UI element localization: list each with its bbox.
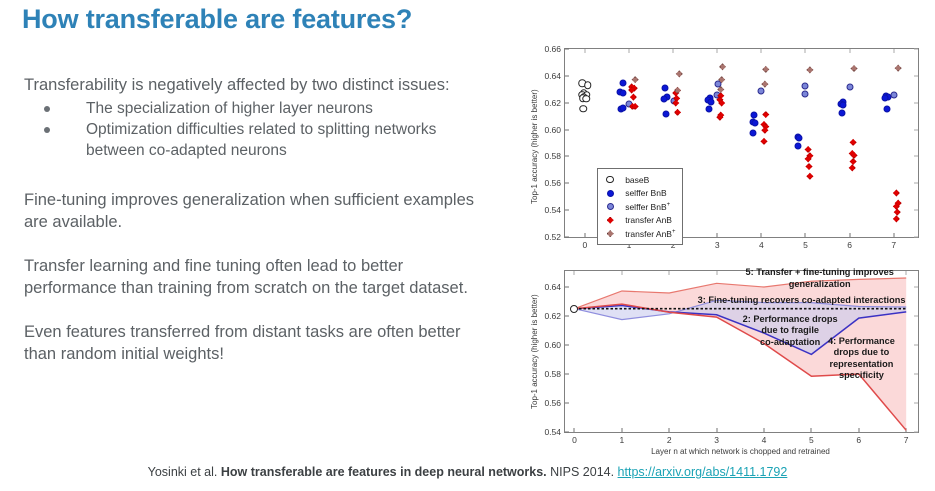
scatter-point (758, 88, 765, 95)
scatter-point (762, 111, 769, 118)
scatter-x-tick-mark (893, 233, 894, 237)
legend-marker-wrap (602, 230, 618, 237)
paragraph-transfer: Transfer learning and fine tuning often … (24, 255, 494, 299)
summary-x-tick: 6 (856, 435, 861, 445)
bullet-list: The specialization of higher layer neuro… (24, 98, 494, 161)
scatter-x-tick-mark (849, 49, 850, 53)
summary-x-tick: 3 (714, 435, 719, 445)
legend-row: transfer AnB (602, 213, 675, 227)
scatter-point (895, 65, 902, 72)
scatter-y-tick-mark (914, 183, 918, 184)
summary-y-tick: 0.56 (544, 398, 561, 408)
scatter-y-tick-mark (914, 102, 918, 103)
scatter-y-tick: 0.62 (544, 98, 561, 108)
summary-y-tick: 0.54 (544, 427, 561, 437)
scatter-y-tick-mark (914, 210, 918, 211)
scatter-y-tick-mark (914, 75, 918, 76)
summary-annotation-2: 2: Performance drops due to fragile co-a… (743, 314, 838, 349)
scatter-legend: baseBselffer BnBselffer BnB+transfer AnB… (597, 168, 682, 246)
legend-label: baseB (625, 175, 649, 185)
scatter-y-tick: 0.66 (544, 44, 561, 54)
spacer (24, 233, 494, 255)
scatter-point (802, 82, 809, 89)
intro-paragraph: Transferability is negatively affected b… (24, 74, 494, 96)
scatter-point (893, 215, 900, 222)
scatter-point (584, 82, 592, 90)
paragraph-finetuning: Fine-tuning improves generalization when… (24, 189, 494, 233)
legend-marker-filled-circle (607, 190, 614, 197)
legend-marker-wrap (602, 203, 618, 210)
scatter-point (893, 189, 900, 196)
scatter-y-tick-mark (565, 210, 569, 211)
summary-y-tick: 0.62 (544, 311, 561, 321)
scatter-point (661, 95, 668, 102)
scatter-point (708, 99, 715, 106)
citation-link[interactable]: https://arxiv.org/abs/1411.1792 (618, 465, 788, 479)
scatter-y-tick-mark (914, 156, 918, 157)
scatter-point (806, 66, 813, 73)
scatter-y-tick: 0.60 (544, 125, 561, 135)
summary-x-tick: 2 (667, 435, 672, 445)
scatter-point (582, 95, 590, 103)
scatter-y-tick: 0.52 (544, 232, 561, 242)
legend-marker-wrap (602, 190, 618, 197)
scatter-x-tick-mark (805, 233, 806, 237)
summary-annotation-4: 4: Performance drops due to representati… (828, 336, 895, 382)
scatter-point (762, 66, 769, 73)
legend-row: baseB (602, 173, 675, 187)
scatter-point (850, 158, 857, 165)
scatter-point (630, 94, 637, 101)
summary-chart: Top-1 accuracy (higher is better) 0.540.… (516, 260, 924, 460)
scatter-point (883, 105, 890, 112)
scatter-point (706, 106, 713, 113)
legend-marker-open-circle (606, 176, 614, 184)
scatter-y-tick: 0.56 (544, 178, 561, 188)
scatter-x-tick-mark (717, 233, 718, 237)
scatter-point (894, 209, 901, 216)
list-item-label: Optimization difficulties related to spl… (86, 121, 436, 159)
scatter-y-tick: 0.64 (544, 71, 561, 81)
legend-row: selffer BnB (602, 186, 675, 200)
scatter-x-tick-mark (805, 49, 806, 53)
legend-label: selffer BnB+ (625, 202, 670, 212)
scatter-y-tick-mark (565, 183, 569, 184)
scatter-point (850, 139, 857, 146)
citation-venue: NIPS 2014. (547, 465, 618, 479)
scatter-point (890, 91, 897, 98)
list-item-label: The specialization of higher layer neuro… (86, 100, 373, 117)
legend-marker-wrap (602, 217, 618, 224)
scatter-y-tick: 0.54 (544, 205, 561, 215)
scatter-x-tick-mark (673, 49, 674, 53)
scatter-point (796, 134, 803, 141)
spacer (24, 161, 494, 189)
scatter-x-tick-mark (717, 49, 718, 53)
scatter-point (750, 130, 757, 137)
scatter-x-tick-mark (893, 49, 894, 53)
scatter-point (881, 95, 888, 102)
scatter-x-tick-mark (584, 49, 585, 53)
bullet-dot-icon (44, 106, 50, 112)
summary-x-tick: 1 (619, 435, 624, 445)
scatter-x-tick: 6 (847, 240, 852, 250)
legend-label: selffer BnB (625, 188, 666, 198)
scatter-point (676, 70, 683, 77)
scatter-y-tick-mark (565, 156, 569, 157)
scatter-y-tick-mark (565, 237, 569, 238)
summary-x-tick: 4 (762, 435, 767, 445)
scatter-x-tick-mark (628, 49, 629, 53)
scatter-x-tick-mark (761, 233, 762, 237)
scatter-y-tick-mark (565, 102, 569, 103)
scatter-y-tick-mark (565, 129, 569, 130)
legend-marker-filled-diamond (607, 217, 614, 224)
scatter-point (838, 110, 845, 117)
scatter-x-tick-mark (761, 49, 762, 53)
scatter-point (662, 85, 669, 92)
list-item: The specialization of higher layer neuro… (24, 98, 494, 119)
legend-marker-wrap (602, 176, 618, 184)
summary-x-tick: 5 (809, 435, 814, 445)
scatter-x-tick-mark (849, 233, 850, 237)
figure-panel: Top-1 accuracy (higher is better) 0.520.… (516, 42, 924, 460)
legend-label: transfer AnB+ (625, 229, 675, 239)
summary-y-tick: 0.58 (544, 369, 561, 379)
summary-annotation-5: 5: Transfer + fine-tuning improves gener… (721, 267, 918, 290)
scatter-point (802, 90, 809, 97)
legend-row: transfer AnB+ (602, 227, 675, 241)
scatter-x-tick-mark (584, 233, 585, 237)
scatter-x-tick: 4 (759, 240, 764, 250)
scatter-y-tick-mark (914, 129, 918, 130)
scatter-y-tick-mark (914, 237, 918, 238)
scatter-point (847, 84, 854, 91)
body-content: Transferability is negatively affected b… (24, 74, 494, 365)
scatter-x-tick: 7 (891, 240, 896, 250)
summary-x-tick: 7 (904, 435, 909, 445)
bullet-dot-icon (44, 127, 50, 133)
citation-footer: Yosinki et al. How transferable are feat… (0, 465, 935, 479)
scatter-y-tick-mark (914, 49, 918, 50)
legend-row: selffer BnB+ (602, 200, 675, 214)
scatter-x-tick: 0 (582, 240, 587, 250)
legend-label: transfer AnB (625, 215, 672, 225)
legend-marker-filled-diamond (607, 230, 614, 237)
page-title: How transferable are features? (22, 4, 412, 35)
scatter-point (619, 90, 626, 97)
scatter-x-tick: 5 (803, 240, 808, 250)
summary-y-tick: 0.60 (544, 340, 561, 350)
scatter-plot-area: 0.520.540.560.580.600.620.640.6601234567… (564, 48, 919, 238)
scatter-point (849, 164, 856, 171)
scatter-point (840, 101, 847, 108)
legend-marker-filled-circle (607, 203, 614, 210)
citation-authors: Yosinki et al. (148, 465, 221, 479)
scatter-point (761, 81, 768, 88)
summary-annotation-3: 3: Fine-tuning recovers co-adapted inter… (698, 295, 906, 307)
summary-y-axis-label: Top-1 accuracy (higher is better) (530, 294, 539, 409)
scatter-point (663, 110, 670, 117)
scatter-chart: Top-1 accuracy (higher is better) 0.520.… (516, 42, 924, 260)
paragraph-distant-tasks: Even features transferred from distant t… (24, 321, 494, 365)
scatter-y-tick-mark (565, 49, 569, 50)
summary-plot-area: 0.540.560.580.600.620.64012345675: Trans… (564, 270, 919, 433)
scatter-y-tick: 0.58 (544, 151, 561, 161)
scatter-point (632, 76, 639, 83)
scatter-point (674, 109, 681, 116)
scatter-point (719, 63, 726, 70)
summary-y-tick: 0.64 (544, 282, 561, 292)
scatter-point (806, 163, 813, 170)
scatter-point (805, 146, 812, 153)
scatter-point (619, 80, 626, 87)
citation-paper-title: How transferable are features in deep ne… (221, 465, 547, 479)
summary-origin-marker (570, 305, 578, 313)
scatter-point (795, 143, 802, 150)
scatter-point (761, 138, 768, 145)
slide-root: How transferable are features? Transfera… (0, 0, 935, 491)
summary-x-tick: 0 (572, 435, 577, 445)
scatter-y-tick-mark (565, 75, 569, 76)
scatter-point (851, 65, 858, 72)
scatter-point (806, 173, 813, 180)
spacer (24, 299, 494, 321)
scatter-point (579, 105, 587, 113)
list-item: Optimization difficulties related to spl… (24, 119, 494, 161)
summary-x-axis-label: Layer n at which network is chopped and … (564, 447, 917, 456)
scatter-x-tick: 3 (715, 240, 720, 250)
scatter-point (752, 120, 759, 127)
scatter-y-axis-label: Top-1 accuracy (higher is better) (530, 89, 539, 204)
